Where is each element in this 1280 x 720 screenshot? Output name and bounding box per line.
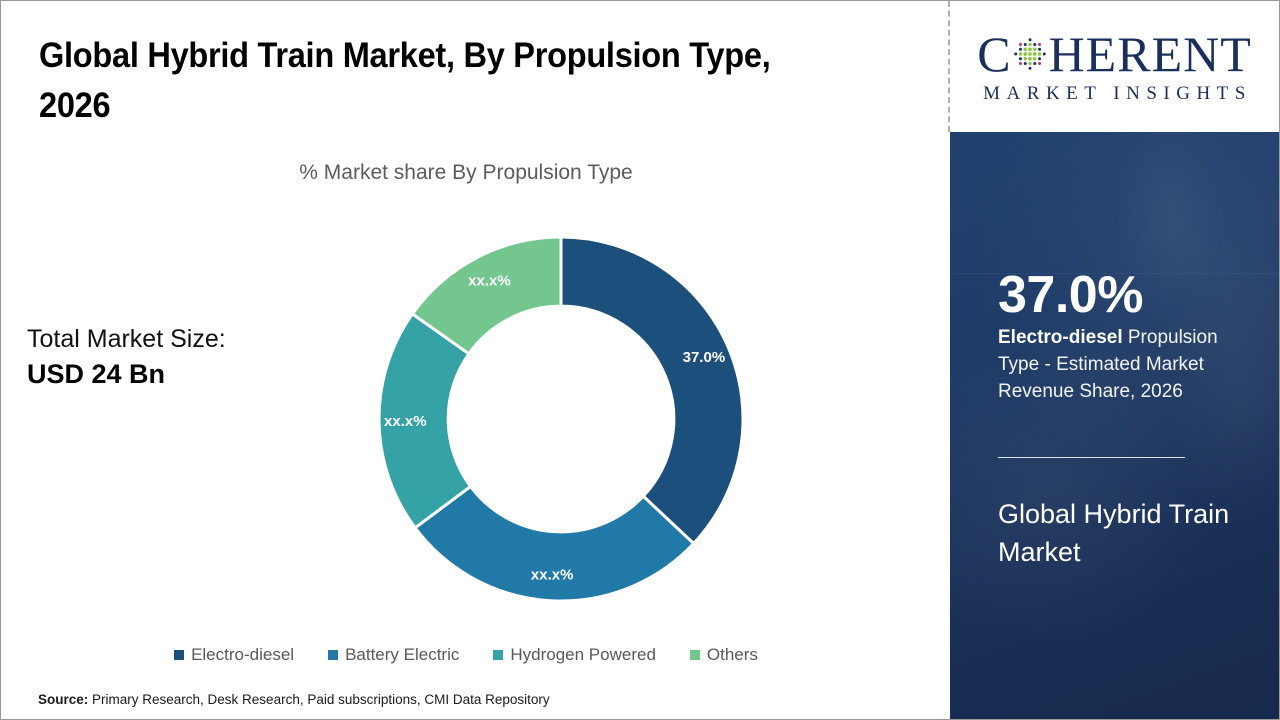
donut-slice-label: 37.0% bbox=[683, 349, 726, 366]
donut-slice bbox=[415, 486, 694, 601]
slide-canvas: Global Hybrid Train Market, By Propulsio… bbox=[0, 0, 1280, 720]
legend-swatch-icon bbox=[493, 650, 503, 660]
stat-percent-value: 37.0% bbox=[998, 269, 1143, 321]
legend-label: Hydrogen Powered bbox=[510, 645, 656, 665]
legend-swatch-icon bbox=[174, 650, 184, 660]
chart-legend: Electro-dieselBattery ElectricHydrogen P… bbox=[1, 645, 931, 665]
donut-slice-label: xx.x% bbox=[531, 566, 574, 583]
source-label: Source: bbox=[38, 692, 88, 707]
legend-item: Others bbox=[690, 645, 758, 665]
total-market-size-label: Total Market Size: bbox=[27, 323, 327, 356]
legend-item: Battery Electric bbox=[328, 645, 459, 665]
donut-slice-label: xx.x% bbox=[468, 273, 511, 290]
page-title: Global Hybrid Train Market, By Propulsio… bbox=[39, 31, 848, 130]
stat-market-name: Global Hybrid Train Market bbox=[998, 495, 1248, 572]
legend-swatch-icon bbox=[690, 650, 700, 660]
source-text: Primary Research, Desk Research, Paid su… bbox=[88, 692, 549, 707]
logo-wordmark: C HERENT bbox=[977, 28, 1252, 80]
stat-divider-line bbox=[998, 457, 1185, 458]
donut-chart-svg: 37.0%xx.x%xx.x%xx.x% bbox=[371, 229, 751, 609]
chart-panel: Global Hybrid Train Market, By Propulsio… bbox=[1, 1, 948, 719]
donut-slice-label: xx.x% bbox=[384, 413, 427, 430]
total-market-size-block: Total Market Size: USD 24 Bn bbox=[27, 323, 327, 392]
legend-label: Electro-diesel bbox=[191, 645, 294, 665]
globe-dots-icon bbox=[1013, 37, 1047, 71]
brand-logo: C HERENT MARKET INSIGHTS bbox=[950, 1, 1279, 132]
donut-slices bbox=[379, 237, 743, 601]
highlight-stat-panel: 37.0% Electro-diesel Propulsion Type - E… bbox=[950, 132, 1279, 719]
source-line: Source: Primary Research, Desk Research,… bbox=[38, 692, 550, 707]
chart-subtitle: % Market share By Propulsion Type bbox=[1, 161, 931, 185]
legend-item: Electro-diesel bbox=[174, 645, 294, 665]
donut-slice bbox=[561, 237, 743, 544]
stat-description: Electro-diesel Propulsion Type - Estimat… bbox=[998, 325, 1250, 406]
logo-letter-c: C bbox=[977, 29, 1011, 79]
legend-swatch-icon bbox=[328, 650, 338, 660]
legend-label: Battery Electric bbox=[345, 645, 459, 665]
legend-item: Hydrogen Powered bbox=[493, 645, 656, 665]
logo-wordmark-rest: HERENT bbox=[1049, 29, 1252, 79]
logo-tagline: MARKET INSIGHTS bbox=[977, 83, 1252, 105]
donut-chart: 37.0%xx.x%xx.x%xx.x% bbox=[371, 229, 751, 609]
total-market-size-value: USD 24 Bn bbox=[27, 356, 327, 392]
stat-description-bold: Electro-diesel bbox=[998, 327, 1123, 348]
legend-label: Others bbox=[707, 645, 758, 665]
